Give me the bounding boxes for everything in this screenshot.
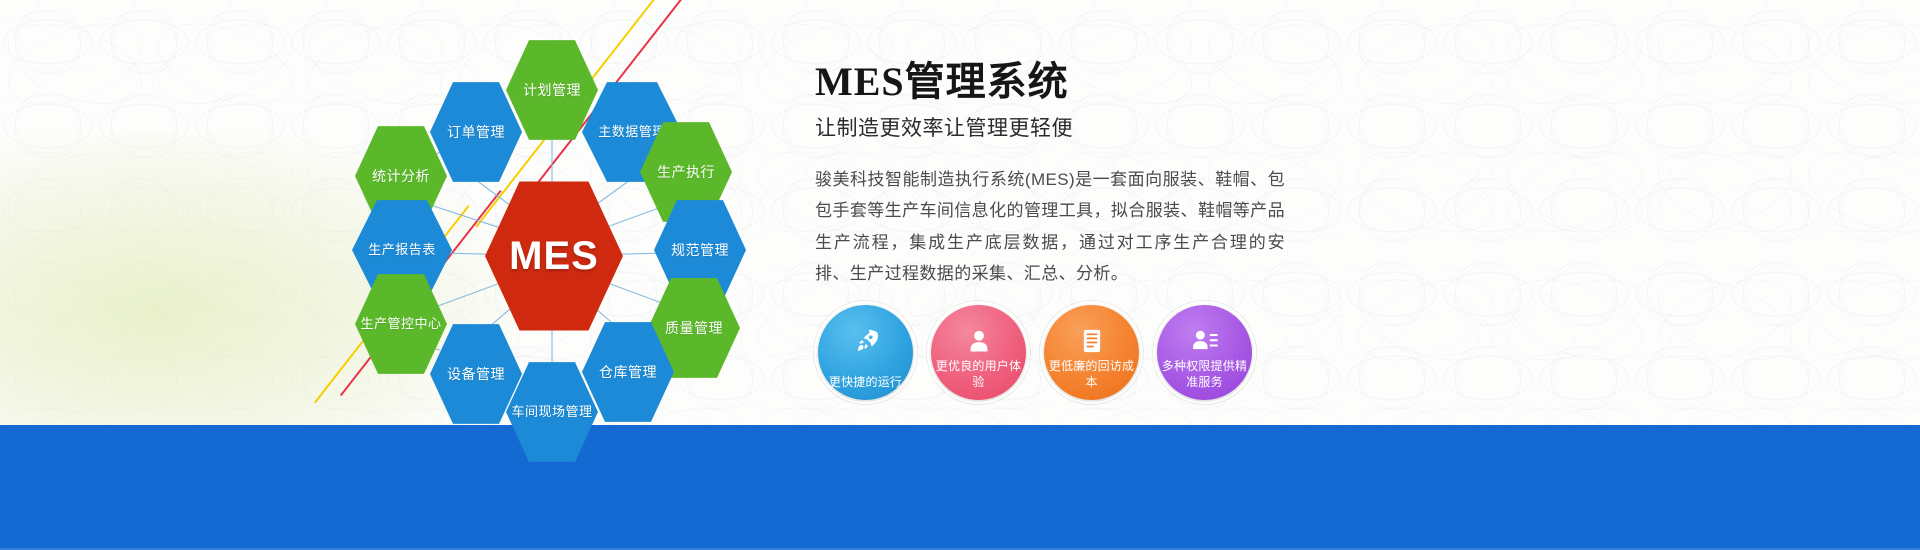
user-icon (964, 326, 994, 356)
bottom-blue-band (0, 425, 1920, 550)
hexagon-diagram: 计划管理 订单管理 主数据管理 统计分析 生产执行 生产报告表 规范管理 生产管… (330, 20, 810, 440)
hex-label: 统计分析 (368, 168, 434, 185)
hex-label: 生产执行 (653, 164, 719, 181)
badge-faster-operation[interactable]: 更快捷的运行 (818, 305, 913, 400)
hex-label: 生产管控中心 (356, 316, 445, 331)
hex-label: 订单管理 (443, 124, 509, 141)
hex-label: 规范管理 (667, 242, 733, 259)
badge-lower-revisit-cost[interactable]: 更低廉的回访成本 (1044, 305, 1139, 400)
badge-label: 更低廉的回访成本 (1049, 359, 1135, 390)
hex-label: 仓库管理 (595, 364, 661, 381)
subheadline: 让制造更效率让管理更轻便 (815, 112, 1455, 142)
hex-label: 质量管理 (661, 320, 727, 337)
badge-multi-permission-service[interactable]: 多种权限提供精准服务 (1157, 305, 1252, 400)
badge-label: 更快捷的运行 (823, 375, 909, 390)
mes-banner: 计划管理 订单管理 主数据管理 统计分析 生产执行 生产报告表 规范管理 生产管… (0, 0, 1920, 550)
users-icon (1190, 326, 1220, 356)
rocket-icon (851, 326, 881, 356)
badge-label: 多种权限提供精准服务 (1162, 359, 1248, 390)
hex-label: 设备管理 (443, 366, 509, 383)
center-label: MES (509, 234, 599, 279)
hex-label: 生产报告表 (364, 242, 440, 257)
body-paragraph: 骏美科技智能制造执行系统(MES)是一套面向服装、鞋帽、包包手套等生产车间信息化… (815, 164, 1285, 290)
headline: MES管理系统 (815, 60, 1455, 104)
hex-label: 计划管理 (519, 82, 585, 99)
badge-label: 更优良的用户体验 (936, 359, 1022, 390)
badge-better-user-experience[interactable]: 更优良的用户体验 (931, 305, 1026, 400)
hex-label: 车间现场管理 (507, 404, 596, 419)
feature-badges: 更快捷的运行 更优良的用户体验 更低廉的回访成本 多种权限提供精准服务 (818, 305, 1252, 400)
document-icon (1077, 326, 1107, 356)
text-panel: MES管理系统 让制造更效率让管理更轻便 骏美科技智能制造执行系统(MES)是一… (815, 60, 1455, 290)
